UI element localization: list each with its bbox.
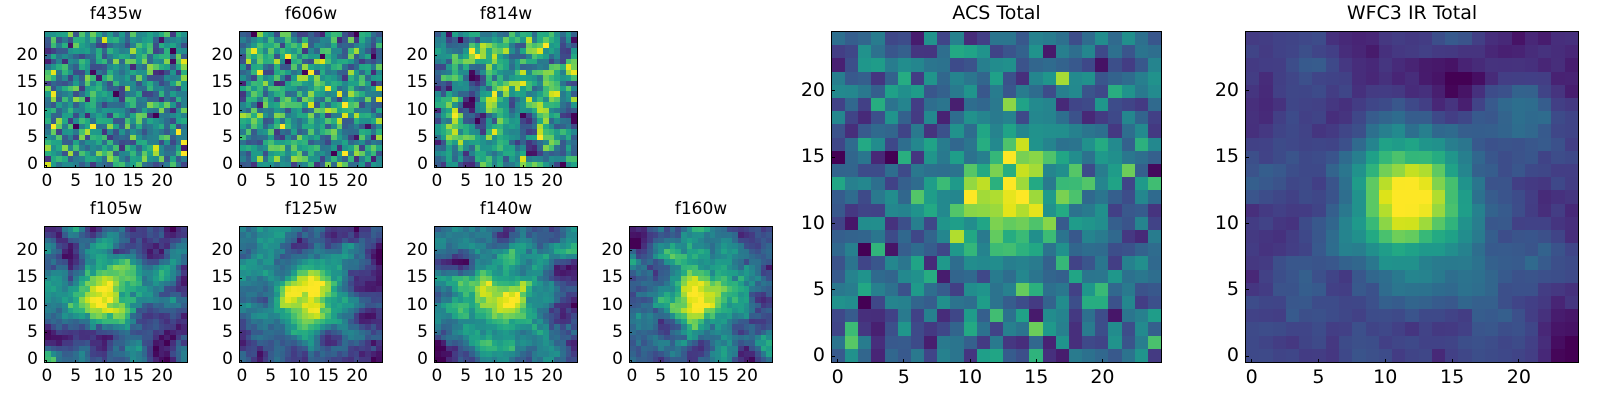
panel-f606w: f606w0055101015152020: [0, 0, 1600, 400]
ytick-mark: [239, 278, 242, 279]
heatmap-f125w[interactable]: [239, 226, 383, 363]
xtick-mark: [747, 360, 748, 363]
ytick-mark: [1245, 223, 1249, 224]
xtick-label: 20: [142, 368, 182, 385]
ytick-label: 0: [0, 156, 38, 173]
ytick-label: 15: [785, 147, 825, 166]
heatmap-cells-f160w: [630, 227, 772, 362]
xtick-mark: [436, 360, 437, 363]
ytick-label: 15: [388, 269, 428, 286]
ytick-mark: [434, 165, 437, 166]
xtick-label: 15: [308, 368, 348, 385]
xtick-mark: [660, 360, 661, 363]
xtick-label: 10: [279, 368, 319, 385]
ytick-mark: [239, 250, 242, 251]
xtick-mark: [1102, 359, 1103, 363]
heatmap-acs_total[interactable]: [831, 31, 1162, 363]
ytick-mark: [239, 360, 242, 361]
xtick-label: 15: [308, 173, 348, 190]
ytick-mark: [629, 305, 632, 306]
panel-title-f105w: f105w: [44, 201, 188, 218]
ytick-mark: [434, 137, 437, 138]
xtick-label: 5: [1298, 368, 1338, 387]
ytick-label: 10: [193, 102, 233, 119]
xtick-mark: [689, 360, 690, 363]
ytick-mark: [434, 55, 437, 56]
xtick-label: 20: [337, 368, 377, 385]
heatmap-f814w[interactable]: [434, 31, 578, 168]
xtick-mark: [162, 165, 163, 168]
ytick-mark: [434, 83, 437, 84]
xtick-mark: [970, 359, 971, 363]
xtick-label: 15: [1016, 368, 1056, 387]
panel-title-f160w: f160w: [629, 201, 773, 218]
heatmap-cells-f105w: [45, 227, 187, 362]
ytick-mark: [239, 165, 242, 166]
xtick-mark: [1385, 359, 1386, 363]
ytick-label: 5: [388, 324, 428, 341]
heatmap-cells-f814w: [435, 32, 577, 167]
xtick-label: 5: [446, 173, 486, 190]
xtick-mark: [104, 165, 105, 168]
ytick-label: 10: [1199, 214, 1239, 233]
xtick-mark: [465, 360, 466, 363]
xtick-mark: [465, 165, 466, 168]
ytick-mark: [434, 278, 437, 279]
xtick-label: 20: [532, 173, 572, 190]
ytick-mark: [1245, 90, 1249, 91]
ytick-mark: [831, 90, 835, 91]
heatmap-f140w[interactable]: [434, 226, 578, 363]
xtick-mark: [299, 165, 300, 168]
xtick-label: 20: [727, 368, 767, 385]
xtick-label: 0: [1232, 368, 1272, 387]
ytick-mark: [44, 250, 47, 251]
ytick-mark: [831, 356, 835, 357]
ytick-label: 15: [1199, 147, 1239, 166]
xtick-mark: [494, 165, 495, 168]
xtick-mark: [837, 359, 838, 363]
ytick-label: 5: [785, 280, 825, 299]
ytick-label: 20: [193, 47, 233, 64]
panel-title-f606w: f606w: [239, 6, 383, 23]
ytick-label: 0: [1199, 346, 1239, 365]
xtick-label: 10: [1365, 368, 1405, 387]
xtick-label: 20: [337, 173, 377, 190]
ytick-mark: [1245, 157, 1249, 158]
xtick-label: 10: [950, 368, 990, 387]
xtick-label: 20: [142, 173, 182, 190]
ytick-mark: [44, 110, 47, 111]
panel-title-acs_total: ACS Total: [831, 4, 1162, 23]
xtick-label: 10: [669, 368, 709, 385]
ytick-label: 20: [1199, 81, 1239, 100]
panel-title-f435w: f435w: [44, 6, 188, 23]
xtick-label: 5: [56, 368, 96, 385]
xtick-label: 0: [27, 368, 67, 385]
heatmap-f606w[interactable]: [239, 31, 383, 168]
ytick-mark: [831, 289, 835, 290]
heatmap-f435w[interactable]: [44, 31, 188, 168]
ytick-mark: [44, 360, 47, 361]
ytick-label: 10: [0, 297, 38, 314]
xtick-mark: [357, 165, 358, 168]
ytick-mark: [1245, 289, 1249, 290]
ytick-mark: [434, 332, 437, 333]
ytick-mark: [44, 137, 47, 138]
ytick-label: 15: [0, 74, 38, 91]
ytick-mark: [239, 55, 242, 56]
xtick-label: 15: [503, 368, 543, 385]
ytick-label: 5: [0, 129, 38, 146]
ytick-mark: [434, 305, 437, 306]
ytick-label: 0: [388, 156, 428, 173]
ytick-mark: [831, 157, 835, 158]
xtick-mark: [75, 165, 76, 168]
xtick-mark: [631, 360, 632, 363]
ytick-mark: [629, 278, 632, 279]
xtick-mark: [436, 165, 437, 168]
xtick-mark: [270, 165, 271, 168]
xtick-mark: [552, 360, 553, 363]
xtick-label: 20: [1499, 368, 1539, 387]
xtick-label: 10: [84, 173, 124, 190]
ytick-label: 20: [583, 242, 623, 259]
xtick-label: 5: [56, 173, 96, 190]
figure-canvas: f435w0055101015152020f606w00551010151520…: [0, 0, 1600, 400]
ytick-mark: [44, 305, 47, 306]
ytick-label: 0: [583, 351, 623, 368]
panel-title-wfc3_ir_total: WFC3 IR Total: [1245, 4, 1579, 23]
ytick-mark: [44, 165, 47, 166]
xtick-mark: [299, 360, 300, 363]
xtick-label: 0: [417, 173, 457, 190]
panel-title-f140w: f140w: [434, 201, 578, 218]
panel-title-f125w: f125w: [239, 201, 383, 218]
heatmap-cells-f125w: [240, 227, 382, 362]
xtick-label: 5: [251, 368, 291, 385]
xtick-mark: [903, 359, 904, 363]
ytick-label: 15: [193, 269, 233, 286]
panel-f435w: f435w0055101015152020: [0, 0, 1600, 400]
xtick-mark: [494, 360, 495, 363]
heatmap-cells-f435w: [45, 32, 187, 167]
ytick-label: 10: [0, 102, 38, 119]
ytick-label: 5: [0, 324, 38, 341]
heatmap-f160w[interactable]: [629, 226, 773, 363]
ytick-label: 20: [785, 81, 825, 100]
ytick-label: 5: [193, 324, 233, 341]
xtick-label: 10: [474, 368, 514, 385]
ytick-label: 0: [785, 346, 825, 365]
xtick-mark: [328, 165, 329, 168]
xtick-label: 20: [1082, 368, 1122, 387]
xtick-mark: [162, 360, 163, 363]
panel-f140w: f140w0055101015152020: [0, 0, 1600, 400]
ytick-mark: [831, 223, 835, 224]
ytick-mark: [239, 332, 242, 333]
xtick-mark: [133, 165, 134, 168]
panel-f125w: f125w0055101015152020: [0, 0, 1600, 400]
ytick-mark: [434, 360, 437, 361]
ytick-label: 10: [785, 214, 825, 233]
xtick-label: 15: [113, 368, 153, 385]
ytick-label: 15: [583, 269, 623, 286]
panel-f160w: f160w0055101015152020: [0, 0, 1600, 400]
ytick-label: 0: [193, 351, 233, 368]
ytick-mark: [629, 332, 632, 333]
xtick-mark: [1251, 359, 1252, 363]
ytick-mark: [239, 83, 242, 84]
xtick-mark: [1036, 359, 1037, 363]
heatmap-wfc3_ir_total[interactable]: [1245, 31, 1579, 363]
ytick-label: 0: [193, 156, 233, 173]
ytick-label: 10: [193, 297, 233, 314]
panel-f105w: f105w0055101015152020: [0, 0, 1600, 400]
xtick-label: 15: [1432, 368, 1472, 387]
ytick-label: 20: [388, 47, 428, 64]
xtick-label: 0: [818, 368, 858, 387]
ytick-label: 5: [388, 129, 428, 146]
panel-wfc3_ir_total: WFC3 IR Total0055101015152020: [0, 0, 1600, 400]
xtick-mark: [46, 165, 47, 168]
panel-f814w: f814w0055101015152020: [0, 0, 1600, 400]
xtick-label: 0: [222, 173, 262, 190]
ytick-label: 20: [388, 242, 428, 259]
xtick-label: 5: [251, 173, 291, 190]
xtick-label: 5: [641, 368, 681, 385]
xtick-label: 15: [113, 173, 153, 190]
xtick-label: 0: [417, 368, 457, 385]
xtick-label: 15: [503, 173, 543, 190]
xtick-label: 10: [279, 173, 319, 190]
ytick-label: 0: [0, 351, 38, 368]
xtick-label: 5: [446, 368, 486, 385]
xtick-label: 15: [698, 368, 738, 385]
ytick-label: 15: [193, 74, 233, 91]
xtick-mark: [523, 360, 524, 363]
ytick-label: 0: [388, 351, 428, 368]
heatmap-cells-f606w: [240, 32, 382, 167]
ytick-mark: [44, 83, 47, 84]
ytick-label: 15: [0, 269, 38, 286]
xtick-label: 10: [84, 368, 124, 385]
ytick-label: 10: [388, 297, 428, 314]
xtick-label: 5: [884, 368, 924, 387]
xtick-mark: [241, 360, 242, 363]
ytick-label: 10: [583, 297, 623, 314]
xtick-mark: [328, 360, 329, 363]
heatmap-cells-f140w: [435, 227, 577, 362]
heatmap-cells-wfc3_ir_total: [1246, 32, 1578, 362]
heatmap-cells-acs_total: [832, 32, 1161, 362]
ytick-label: 10: [388, 102, 428, 119]
xtick-mark: [133, 360, 134, 363]
ytick-label: 15: [388, 74, 428, 91]
ytick-mark: [434, 110, 437, 111]
ytick-label: 20: [193, 242, 233, 259]
ytick-mark: [44, 332, 47, 333]
xtick-mark: [104, 360, 105, 363]
ytick-label: 20: [0, 47, 38, 64]
ytick-mark: [44, 55, 47, 56]
ytick-label: 5: [193, 129, 233, 146]
ytick-label: 5: [583, 324, 623, 341]
ytick-mark: [1245, 356, 1249, 357]
ytick-label: 5: [1199, 280, 1239, 299]
xtick-mark: [357, 360, 358, 363]
ytick-mark: [629, 250, 632, 251]
ytick-mark: [629, 360, 632, 361]
xtick-mark: [523, 165, 524, 168]
xtick-mark: [1318, 359, 1319, 363]
ytick-mark: [239, 305, 242, 306]
xtick-label: 0: [222, 368, 262, 385]
xtick-mark: [552, 165, 553, 168]
xtick-mark: [1452, 359, 1453, 363]
panel-acs_total: ACS Total0055101015152020: [0, 0, 1600, 400]
ytick-label: 20: [0, 242, 38, 259]
ytick-mark: [239, 137, 242, 138]
xtick-label: 10: [474, 173, 514, 190]
xtick-label: 0: [612, 368, 652, 385]
xtick-label: 0: [27, 173, 67, 190]
xtick-mark: [1518, 359, 1519, 363]
ytick-mark: [434, 250, 437, 251]
heatmap-f105w[interactable]: [44, 226, 188, 363]
xtick-mark: [718, 360, 719, 363]
xtick-mark: [270, 360, 271, 363]
ytick-mark: [239, 110, 242, 111]
xtick-mark: [241, 165, 242, 168]
xtick-mark: [75, 360, 76, 363]
panel-title-f814w: f814w: [434, 6, 578, 23]
xtick-mark: [46, 360, 47, 363]
xtick-label: 20: [532, 368, 572, 385]
ytick-mark: [44, 278, 47, 279]
